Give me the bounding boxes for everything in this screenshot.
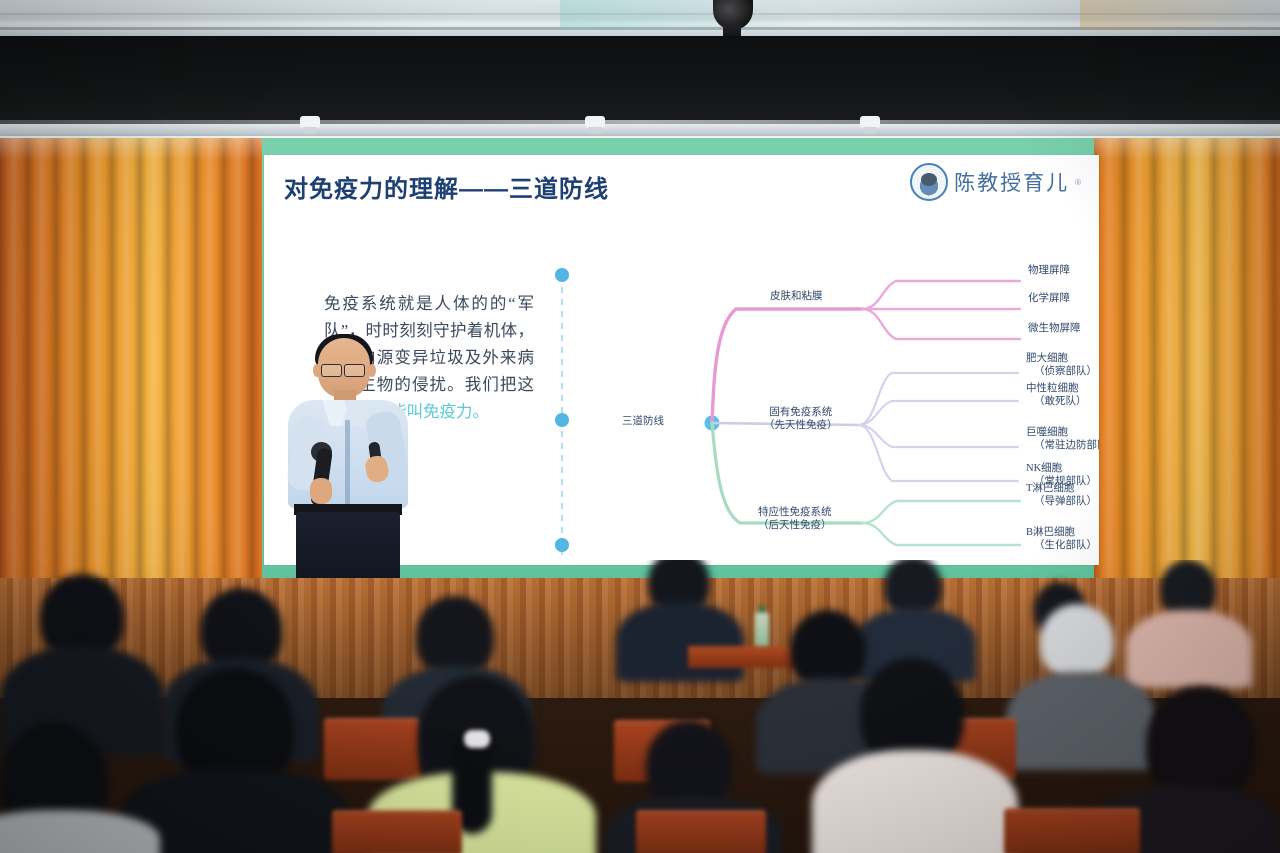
- mindmap-root-label: 三道防线: [622, 416, 664, 429]
- body-line-1: 免疫系统就是人体的: [324, 294, 490, 313]
- adaptive-title: 特应性免疫系统: [758, 507, 832, 520]
- lecture-hall-photo: 对免疫力的理解——三道防线 陈教授育儿 ® 免疫系统就是人体的的“军队”，时时刻…: [0, 0, 1280, 853]
- audience-cap: [1040, 604, 1114, 678]
- timeline-dot: [555, 268, 569, 282]
- page-title: 对免疫力的理解——三道防线: [284, 169, 609, 204]
- presenter-ear-left: [313, 364, 321, 377]
- macrophage-note: （常驻边防部队）: [1026, 440, 1099, 453]
- mast-cell-note: （侦察部队）: [1026, 366, 1097, 379]
- b-cell-note: （生化部队）: [1026, 540, 1097, 553]
- timeline-dot: [555, 413, 569, 427]
- branch-b-cell: [862, 523, 1020, 545]
- branch-nk-cell: [858, 425, 1018, 481]
- stage-curtain-left: [0, 138, 262, 618]
- nk-cell-title: NK细胞: [1026, 463, 1097, 476]
- mindmap-leaf-microbial-barrier: 微生物屏障: [1028, 323, 1081, 336]
- mindmap-leaf-t-cell: T淋巴细胞 （导弹部队）: [1026, 483, 1097, 508]
- glasses-icon: [321, 364, 342, 377]
- mindmap-branch-label-adaptive: 特应性免疫系统 （后天性免疫）: [758, 507, 832, 532]
- mindmap-leaf-mast-cell: 肥大细胞 （侦察部队）: [1026, 353, 1097, 378]
- glasses-icon: [344, 364, 365, 377]
- innate-title: 固有免疫系统: [764, 407, 838, 420]
- audience-body: [1006, 672, 1156, 770]
- mast-cell-title: 肥大细胞: [1026, 353, 1097, 366]
- audience-body: [616, 602, 744, 682]
- branch-skin-trunk: [712, 309, 862, 423]
- neutrophil-note: （敢死队）: [1026, 396, 1087, 409]
- branch-physical: [862, 281, 1020, 309]
- brand-logo: 陈教授育儿 ®: [910, 163, 1081, 201]
- desk-edge: [688, 646, 798, 668]
- b-cell-title: B淋巴细胞: [1026, 527, 1097, 540]
- branch-mast-cell: [858, 373, 1018, 425]
- mindmap-branch-label-innate: 固有免疫系统 （先天性免疫）: [764, 407, 838, 432]
- adaptive-sub: （后天性免疫）: [758, 520, 832, 533]
- audience-body: [1126, 610, 1252, 688]
- mindmap: 三道防线 皮肤和粘膜 物理屏障 化学屏障 微生物屏障 固有免疫系统 （先天性免疫…: [544, 235, 1084, 565]
- presenter-hand-left: [310, 478, 332, 504]
- ceiling-reflection-warm: [1080, 0, 1280, 30]
- branch-microbial: [862, 309, 1020, 339]
- mindmap-leaf-b-cell: B淋巴细胞 （生化部队）: [1026, 527, 1097, 552]
- macrophage-title: 巨噬细胞: [1026, 427, 1099, 440]
- presenter-ear-right: [368, 364, 376, 377]
- chair-back: [636, 810, 766, 853]
- track-light-icon: [860, 116, 880, 128]
- chair-back: [324, 718, 420, 780]
- mindmap-leaf-macrophage: 巨噬细胞 （常驻边防部队）: [1026, 427, 1099, 452]
- mindmap-branch-label-skin: 皮肤和粘膜: [770, 291, 823, 304]
- curtain-header-right: [1094, 138, 1280, 160]
- mindmap-leaf-chemical-barrier: 化学屏障: [1028, 293, 1070, 306]
- seated-audience: [0, 560, 1280, 853]
- stage-curtain-right: [1094, 138, 1280, 618]
- mindmap-leaf-neutrophil: 中性粒细胞 （敢死队）: [1026, 383, 1087, 408]
- branch-t-cell: [862, 501, 1020, 523]
- track-light-icon: [585, 116, 605, 128]
- ceiling-soffit: [0, 36, 1280, 128]
- audience-body: [812, 750, 1018, 853]
- mindmap-leaf-physical-barrier: 物理屏障: [1028, 265, 1070, 278]
- brand-logo-text: 陈教授育儿: [954, 167, 1069, 197]
- track-light-icon: [300, 116, 320, 128]
- audience-head: [416, 596, 494, 676]
- ceiling-reflection-green: [560, 0, 820, 30]
- curtain-header-left: [0, 138, 262, 160]
- branch-neutrophil: [858, 401, 1018, 425]
- timeline-dot: [555, 538, 569, 552]
- chair-back: [332, 810, 462, 853]
- trademark-mark: ®: [1075, 178, 1081, 187]
- t-cell-note: （导弹部队）: [1026, 496, 1097, 509]
- innate-sub: （先天性免疫）: [764, 420, 838, 433]
- t-cell-title: T淋巴细胞: [1026, 483, 1097, 496]
- shirt-placket: [345, 420, 350, 506]
- branch-macrophage: [858, 425, 1018, 447]
- presenter: [288, 338, 408, 586]
- audience-head: [790, 610, 866, 688]
- audience-head: [1146, 686, 1256, 802]
- neutrophil-title: 中性粒细胞: [1026, 383, 1087, 396]
- hair-tie: [464, 730, 490, 748]
- chair-back: [1004, 808, 1140, 853]
- portrait-badge-icon: [910, 163, 948, 201]
